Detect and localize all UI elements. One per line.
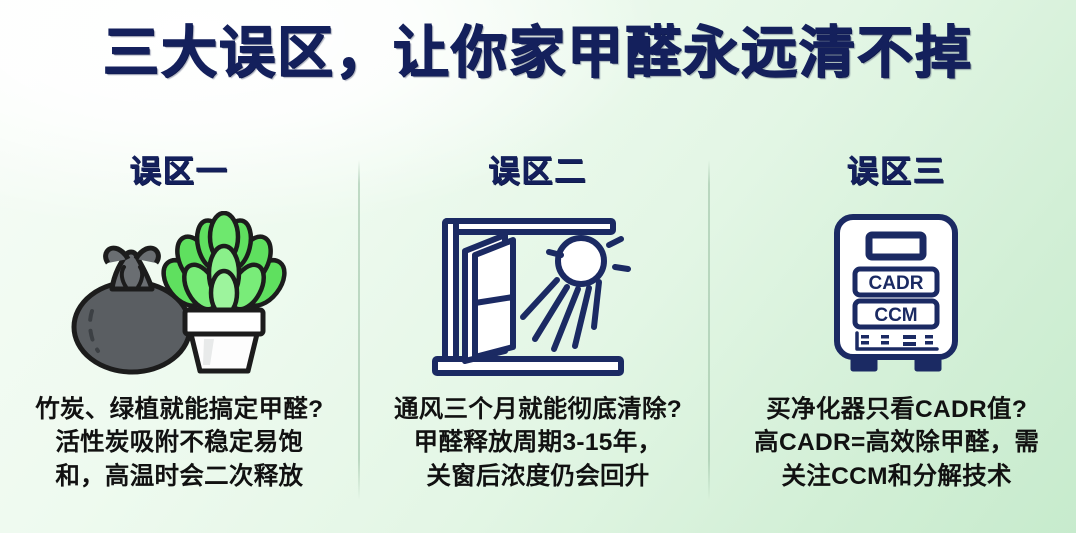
caption-line: 竹炭、绿植就能搞定甲醛? xyxy=(9,393,349,426)
caption-line: 关窗后浓度仍会回升 xyxy=(368,460,708,493)
column-1-heading: 误区一 xyxy=(130,146,229,191)
caption-line: 和，高温时会二次释放 xyxy=(9,460,349,493)
caption-line: 甲醛释放周期3-15年， xyxy=(368,426,708,459)
infographic-poster: 三大误区，让你家甲醛永远清不掉 误区一 xyxy=(0,0,1076,533)
column-2-illustration xyxy=(423,207,653,385)
open-window-with-sun-icon xyxy=(423,209,653,384)
column-1-illustration xyxy=(64,207,294,385)
myth-column-1: 误区一 xyxy=(0,136,359,533)
column-3-heading: 误区三 xyxy=(847,146,946,191)
caption-line: 活性炭吸附不稳定易饱 xyxy=(9,426,349,459)
caption-line: 关注CCM和分解技术 xyxy=(727,460,1067,493)
caption-line: 高CADR=高效除甲醛，需 xyxy=(727,426,1067,459)
myth-column-3: 误区三 xyxy=(717,136,1076,533)
myth-column-2: 误区二 xyxy=(359,136,718,533)
purifier-cadr-label: CADR xyxy=(868,273,923,294)
caption-line: 通风三个月就能彻底清除? xyxy=(368,393,708,426)
column-3-caption: 买净化器只看CADR值? 高CADR=高效除甲醛，需 关注CCM和分解技术 xyxy=(727,393,1067,493)
column-2-heading: 误区二 xyxy=(489,146,588,191)
charcoal-bag-and-succulent-plant-icon xyxy=(64,211,294,381)
title-container: 三大误区，让你家甲醛永远清不掉 xyxy=(0,22,1076,85)
column-1-caption: 竹炭、绿植就能搞定甲醛? 活性炭吸附不稳定易饱 和，高温时会二次释放 xyxy=(9,393,349,493)
caption-line: 买净化器只看CADR值? xyxy=(727,393,1067,426)
column-2-caption: 通风三个月就能彻底清除? 甲醛释放周期3-15年， 关窗后浓度仍会回升 xyxy=(368,393,708,493)
columns-container: 误区一 xyxy=(0,136,1076,533)
column-3-illustration: CADR CCM xyxy=(817,207,977,385)
page-title: 三大误区，让你家甲醛永远清不掉 xyxy=(103,22,973,85)
purifier-ccm-label: CCM xyxy=(874,305,917,326)
air-purifier-icon: CADR CCM xyxy=(817,209,977,384)
